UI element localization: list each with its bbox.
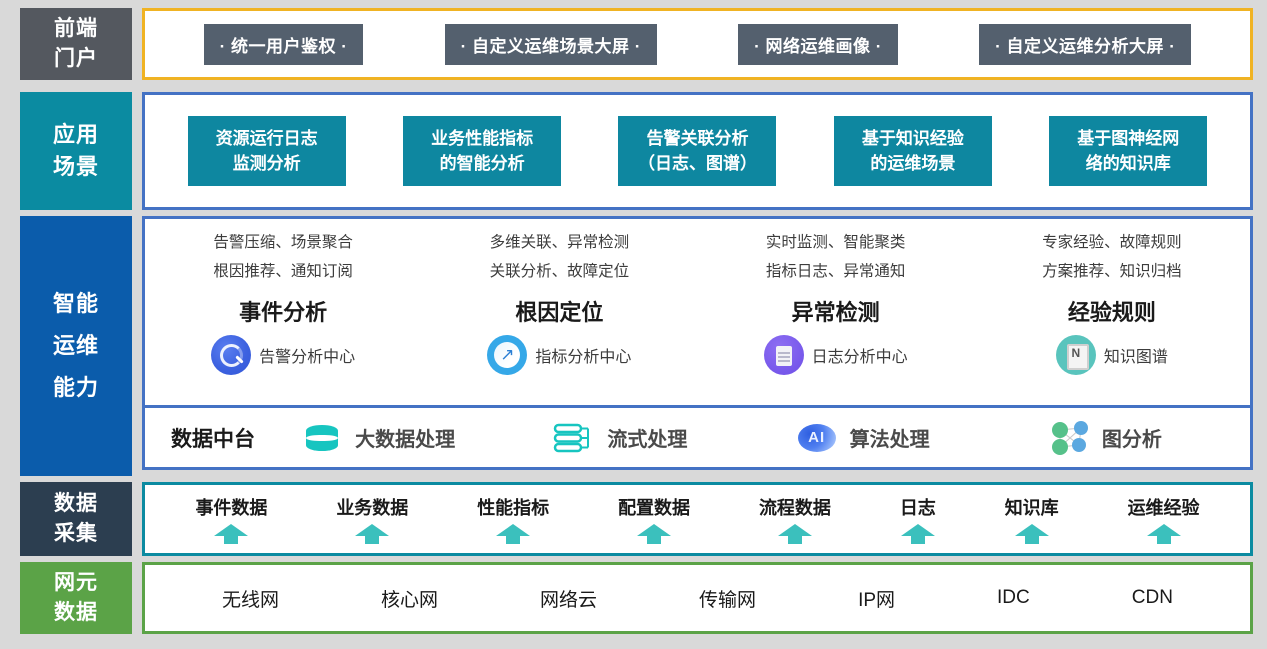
- portal-items-container: · 统一用户鉴权 · · 自定义运维场景大屏 · · 网络运维画像 · · 自定…: [142, 8, 1253, 80]
- collection-item-logs[interactable]: 日志: [900, 494, 936, 544]
- collection-item-performance-metrics[interactable]: 性能指标: [477, 494, 549, 544]
- data-platform-container: 数据中台 大数据处理 流式处理: [142, 408, 1253, 470]
- capability-subtitle: 关联分析、故障定位: [490, 258, 630, 285]
- database-icon: [301, 421, 343, 455]
- row-label-data-collection: 数据 采集: [20, 482, 132, 556]
- data-platform-item-label: 流式处理: [607, 423, 687, 452]
- network-element-item-ip[interactable]: IP网: [858, 585, 895, 612]
- scene-chip-gnn-knowledge-base[interactable]: 基于图神经网 络的知识库: [1049, 116, 1207, 186]
- capability-title: 经验规则: [1068, 295, 1156, 327]
- collection-item-label: 知识库: [1005, 494, 1059, 520]
- aiops-architecture-diagram: 前端 门户 · 统一用户鉴权 · · 自定义运维场景大屏 · · 网络运维画像 …: [0, 0, 1267, 649]
- collection-item-label: 业务数据: [336, 494, 408, 520]
- capability-icon-label: 知识图谱: [1104, 343, 1168, 367]
- data-platform-item-graph[interactable]: 图分析: [986, 421, 1224, 455]
- metric-analysis-icon: [487, 335, 527, 375]
- row-label-line: 智能: [53, 283, 99, 325]
- scene-items-container: 资源运行日志 监测分析 业务性能指标 的智能分析 告警关联分析 （日志、图谱） …: [142, 92, 1253, 210]
- data-platform-item-label: 图分析: [1102, 423, 1162, 452]
- row-network-element-data: 网元 数据 无线网 核心网 网络云 传输网 IP网 IDC CDN: [0, 562, 1267, 634]
- collection-item-label: 运维经验: [1128, 494, 1200, 520]
- stream-icon: [553, 421, 595, 455]
- collection-item-label: 事件数据: [195, 494, 267, 520]
- capability-icon-label: 指标分析中心: [535, 343, 631, 367]
- row-label-line: 网元: [54, 568, 98, 598]
- capability-subtitle: 多维关联、异常检测: [490, 229, 630, 256]
- scene-chip-line: （日志、图谱）: [638, 151, 757, 177]
- row-label-line: 应用: [53, 119, 99, 151]
- arrow-up-icon: [1147, 524, 1181, 544]
- arrow-up-icon: [637, 524, 671, 544]
- row-application-scenarios: 应用 场景 资源运行日志 监测分析 业务性能指标 的智能分析 告警关联分析 （日…: [0, 92, 1267, 210]
- capability-icon-row[interactable]: 指标分析中心: [487, 335, 631, 375]
- row-label-network-element-data: 网元 数据: [20, 562, 132, 634]
- portal-chip-unified-auth[interactable]: · 统一用户鉴权 ·: [204, 24, 364, 65]
- scene-chip-resource-log-monitoring[interactable]: 资源运行日志 监测分析: [188, 116, 346, 186]
- row-label-line: 场景: [53, 151, 99, 183]
- collection-item-process-data[interactable]: 流程数据: [759, 494, 831, 544]
- collection-item-configuration-data[interactable]: 配置数据: [618, 494, 690, 544]
- row-label-line: 运维: [53, 325, 99, 367]
- data-platform-item-stream[interactable]: 流式处理: [501, 421, 739, 455]
- capability-title: 根因定位: [515, 295, 603, 327]
- capability-subtitle: 实时监测、智能聚类: [766, 229, 906, 256]
- row-label-frontend-portal: 前端 门户: [20, 8, 132, 80]
- collection-item-business-data[interactable]: 业务数据: [336, 494, 408, 544]
- scene-chip-line: 业务性能指标: [431, 126, 533, 152]
- collection-item-label: 性能指标: [477, 494, 549, 520]
- capability-subtitle: 方案推荐、知识归档: [1042, 258, 1182, 285]
- collection-items-container: 事件数据 业务数据 性能指标 配置数据 流程数据 日志: [142, 482, 1253, 556]
- network-element-item-cdn[interactable]: CDN: [1132, 587, 1173, 609]
- network-element-item-transport[interactable]: 传输网: [699, 585, 756, 612]
- scene-chip-line: 监测分析: [233, 151, 301, 177]
- data-platform-item-label: 大数据处理: [355, 423, 455, 452]
- scene-chip-line: 络的知识库: [1086, 151, 1171, 177]
- data-platform-title: 数据中台: [171, 423, 255, 453]
- knowledge-graph-icon: [1056, 335, 1096, 375]
- network-element-item-network-cloud[interactable]: 网络云: [540, 585, 597, 612]
- capability-container: 告警压缩、场景聚合 根因推荐、通知订阅 事件分析 告警分析中心 多维关联、异常检…: [142, 216, 1253, 408]
- row-frontend-portal: 前端 门户 · 统一用户鉴权 · · 自定义运维场景大屏 · · 网络运维画像 …: [0, 8, 1267, 80]
- arrow-up-icon: [496, 524, 530, 544]
- capability-icon-label: 日志分析中心: [812, 343, 908, 367]
- arrow-up-icon: [1015, 524, 1049, 544]
- scene-chip-line: 的运维场景: [870, 151, 955, 177]
- data-platform-item-label: 算法处理: [850, 423, 930, 452]
- portal-chip-custom-ops-dashboard[interactable]: · 自定义运维场景大屏 ·: [445, 24, 657, 65]
- data-platform-item-algorithm[interactable]: 算法处理: [744, 421, 982, 455]
- network-element-item-idc[interactable]: IDC: [997, 587, 1030, 609]
- capability-subtitle: 告警压缩、场景聚合: [213, 229, 353, 256]
- capability-root-cause-location[interactable]: 多维关联、异常检测 关联分析、故障定位 根因定位 指标分析中心: [421, 229, 697, 399]
- capability-anomaly-detection[interactable]: 实时监测、智能聚类 指标日志、异常通知 异常检测 日志分析中心: [698, 229, 974, 399]
- row-label-line: 门户: [54, 44, 98, 74]
- portal-chip-network-ops-profile[interactable]: · 网络运维画像 ·: [738, 24, 898, 65]
- graph-network-icon: [1048, 421, 1090, 455]
- network-element-items-container: 无线网 核心网 网络云 传输网 IP网 IDC CDN: [142, 562, 1253, 634]
- collection-item-ops-experience[interactable]: 运维经验: [1128, 494, 1200, 544]
- capability-subtitle: 指标日志、异常通知: [766, 258, 906, 285]
- portal-chip-custom-analysis-dashboard[interactable]: · 自定义运维分析大屏 ·: [979, 24, 1191, 65]
- collection-item-event-data[interactable]: 事件数据: [195, 494, 267, 544]
- ai-icon: [796, 421, 838, 455]
- arrow-up-icon: [355, 524, 389, 544]
- scene-chip-line: 基于图神经网: [1077, 126, 1179, 152]
- collection-item-label: 日志: [900, 494, 936, 520]
- arrow-up-icon: [214, 524, 248, 544]
- scene-chip-alarm-correlation-analysis[interactable]: 告警关联分析 （日志、图谱）: [618, 116, 776, 186]
- row-label-intelligent-ops-capability: 智能 运维 能力: [20, 216, 132, 476]
- collection-item-knowledge-base[interactable]: 知识库: [1005, 494, 1059, 544]
- scene-chip-knowledge-based-ops[interactable]: 基于知识经验 的运维场景: [834, 116, 992, 186]
- collection-item-label: 流程数据: [759, 494, 831, 520]
- row-data-collection: 数据 采集 事件数据 业务数据 性能指标 配置数据 流程数据: [0, 482, 1267, 556]
- scene-chip-business-kpi-analysis[interactable]: 业务性能指标 的智能分析: [403, 116, 561, 186]
- scene-chip-line: 资源运行日志: [216, 126, 318, 152]
- capability-subtitle: 专家经验、故障规则: [1042, 229, 1182, 256]
- scene-chip-line: 告警关联分析: [646, 126, 748, 152]
- row-label-line: 前端: [54, 14, 98, 44]
- arrow-up-icon: [901, 524, 935, 544]
- row-label-line: 能力: [53, 367, 99, 409]
- row-label-application-scenarios: 应用 场景: [20, 92, 132, 210]
- capability-title: 事件分析: [239, 295, 327, 327]
- capability-icon-row[interactable]: 日志分析中心: [764, 335, 908, 375]
- row-label-line: 采集: [54, 519, 98, 549]
- row-intelligent-ops-capability: 智能 运维 能力 告警压缩、场景聚合 根因推荐、通知订阅 事件分析 告警分析中心…: [0, 216, 1267, 476]
- network-element-item-core[interactable]: 核心网: [381, 585, 438, 612]
- network-element-item-wireless[interactable]: 无线网: [222, 585, 279, 612]
- capability-icon-row[interactable]: 知识图谱: [1056, 335, 1168, 375]
- capability-subtitle: 根因推荐、通知订阅: [213, 258, 353, 285]
- aiops-stack: 告警压缩、场景聚合 根因推荐、通知订阅 事件分析 告警分析中心 多维关联、异常检…: [142, 216, 1253, 476]
- scene-chip-line: 的智能分析: [440, 151, 525, 177]
- capability-title: 异常检测: [792, 295, 880, 327]
- row-label-line: 数据: [54, 598, 98, 628]
- capability-icon-row[interactable]: 告警分析中心: [211, 335, 355, 375]
- capability-icon-label: 告警分析中心: [259, 343, 355, 367]
- capability-event-analysis[interactable]: 告警压缩、场景聚合 根因推荐、通知订阅 事件分析 告警分析中心: [145, 229, 421, 399]
- collection-item-label: 配置数据: [618, 494, 690, 520]
- capability-experience-rules[interactable]: 专家经验、故障规则 方案推荐、知识归档 经验规则 知识图谱: [974, 229, 1250, 399]
- log-analysis-icon: [764, 335, 804, 375]
- row-label-line: 数据: [54, 489, 98, 519]
- alarm-analysis-icon: [211, 335, 251, 375]
- data-platform-item-bigdata[interactable]: 大数据处理: [259, 421, 497, 455]
- arrow-up-icon: [778, 524, 812, 544]
- scene-chip-line: 基于知识经验: [862, 126, 964, 152]
